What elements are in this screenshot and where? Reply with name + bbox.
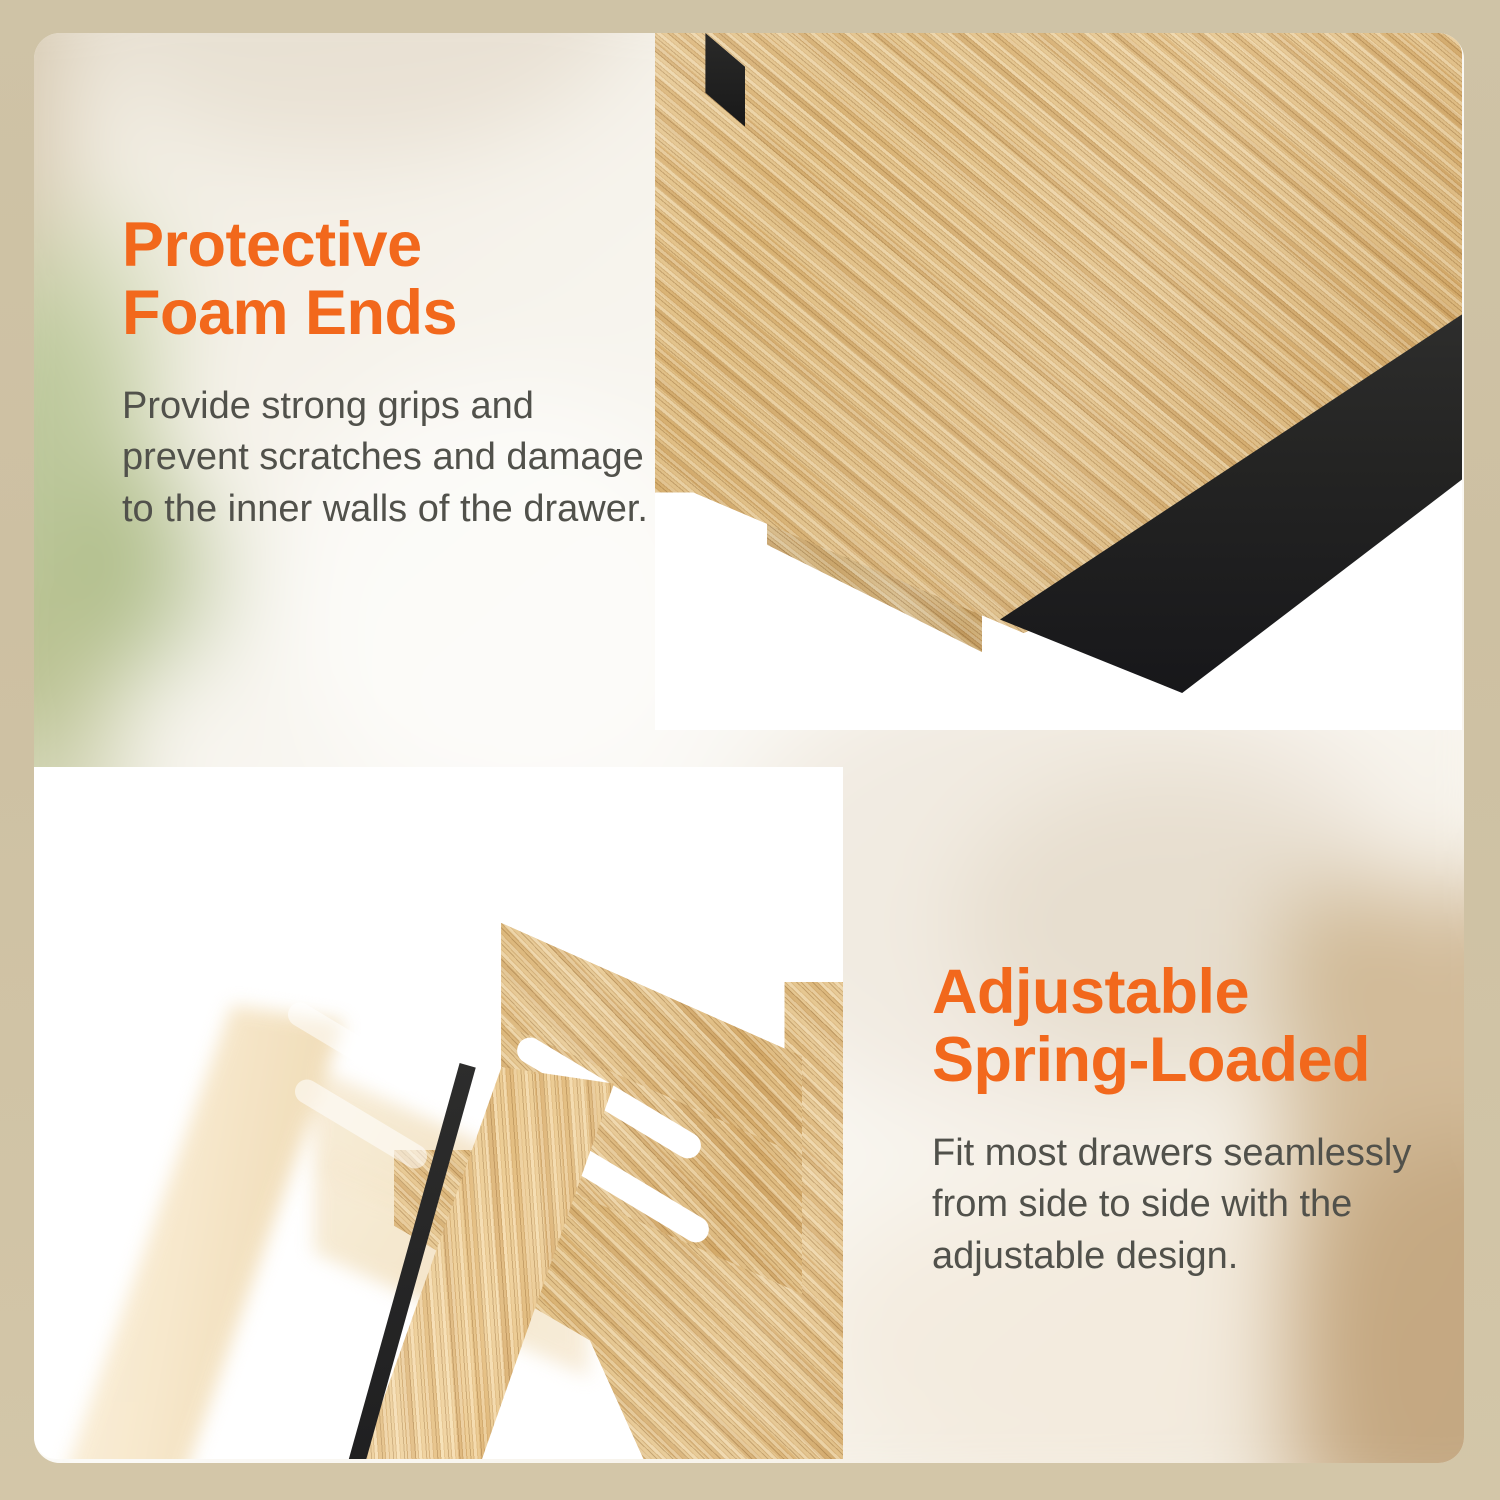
bg-top-wall (74, 33, 634, 153)
bamboo-board-photo (655, 33, 1462, 730)
feature-text-spring-loaded: Adjustable Spring-Loaded Fit most drawer… (932, 958, 1464, 1282)
image-panel-foam-ends (655, 33, 1462, 730)
image-panel-spring-loaded (34, 767, 843, 1459)
feature-heading-foam-ends: Protective Foam Ends (122, 211, 652, 347)
feature-body-spring-loaded: Fit most drawers seamlessly from side to… (932, 1128, 1464, 1282)
feature-heading-spring-loaded: Adjustable Spring-Loaded (932, 958, 1464, 1094)
heading-line-1: Adjustable (932, 958, 1464, 1026)
feature-text-foam-ends: Protective Foam Ends Provide strong grip… (122, 211, 652, 535)
infographic-canvas: Protective Foam Ends Provide strong grip… (0, 0, 1500, 1500)
heading-line-2: Foam Ends (122, 279, 652, 347)
inner-frame: Protective Foam Ends Provide strong grip… (34, 33, 1464, 1463)
heading-line-2: Spring-Loaded (932, 1026, 1464, 1094)
heading-line-1: Protective (122, 211, 652, 279)
feature-body-foam-ends: Provide strong grips and prevent scratch… (122, 381, 652, 535)
ghost-divider-bar (44, 1005, 344, 1459)
